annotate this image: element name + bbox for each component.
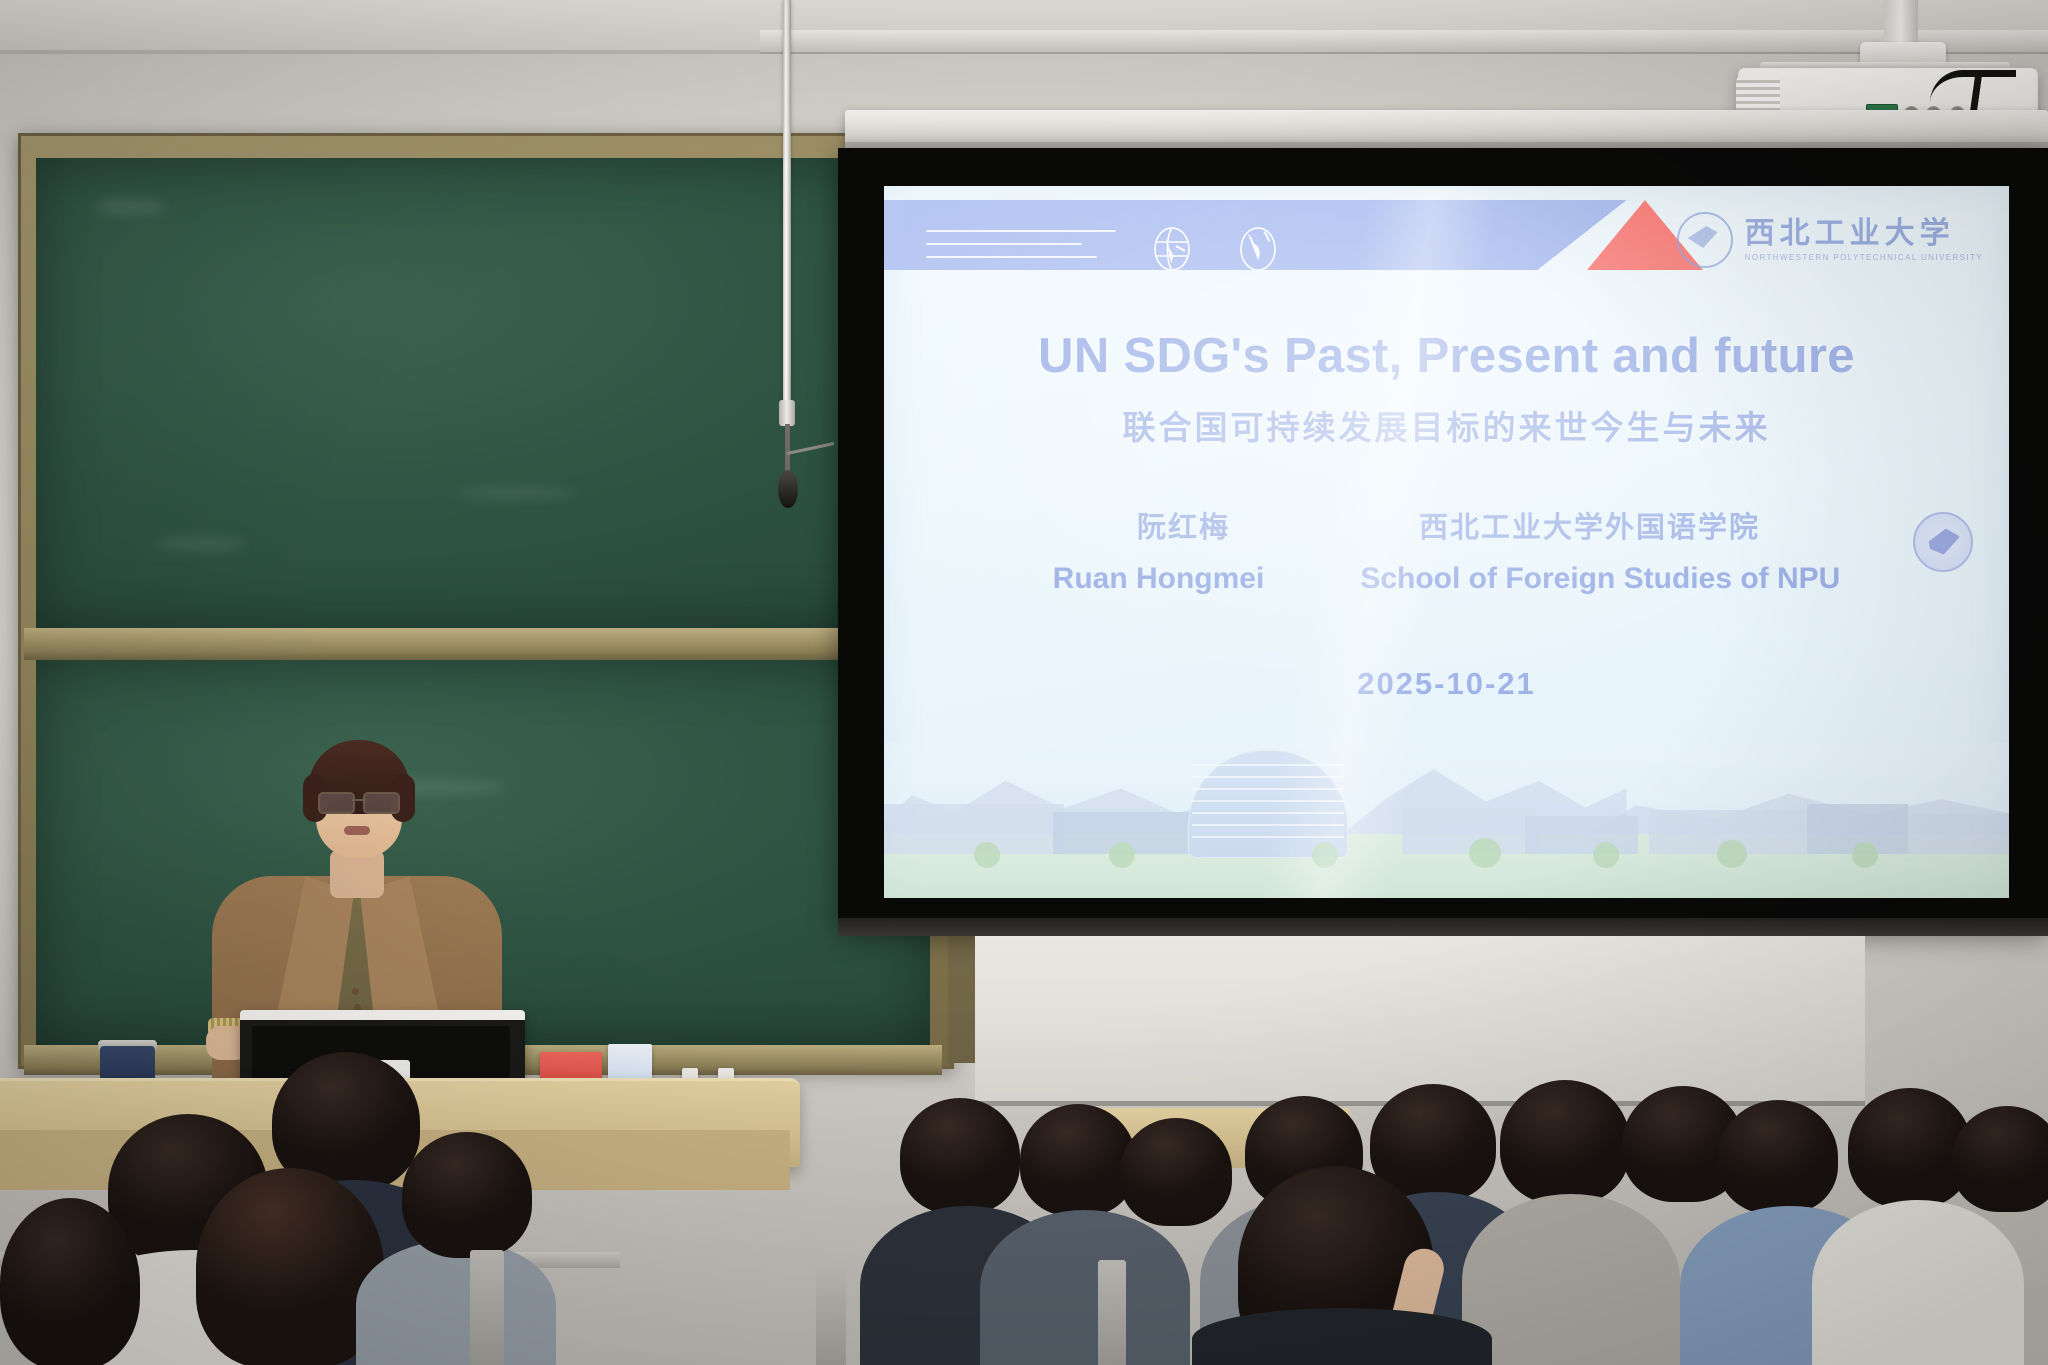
presenter-name-cn: 阮红梅 <box>1089 504 1279 546</box>
globe-icon <box>1238 224 1282 274</box>
university-emblem-icon <box>1677 212 1733 268</box>
projection-screen-bottom-bar <box>838 918 2048 936</box>
student-shoulders <box>356 1240 556 1365</box>
slide-date: 2025-10-21 <box>884 666 2009 702</box>
student-shoulders <box>1462 1194 1680 1365</box>
chalk-rail-upper <box>24 628 942 660</box>
presenter-mouth <box>344 826 370 835</box>
campus-panorama-image <box>884 743 2009 898</box>
student-shoulders <box>1812 1200 2024 1365</box>
university-logo: 西北工业大学 NORTHWESTERN POLYTECHNICAL UNIVER… <box>1677 212 1983 268</box>
presenter-affiliation-en: School of Foreign Studies of NPU <box>1360 562 1840 596</box>
student-head <box>1020 1104 1136 1216</box>
audience-rows <box>0 1080 2048 1365</box>
slide-title-english: UN SDG's Past, Present and future <box>884 328 2009 384</box>
globe-icon <box>1152 224 1196 274</box>
header-decorative-lines <box>926 230 1116 269</box>
student-head <box>1718 1100 1838 1214</box>
seat-back <box>1098 1260 1126 1365</box>
slide-title-chinese: 联合国可持续发展目标的来世今生与未来 <box>884 401 2009 449</box>
classroom-photo-scene: 西北工业大学 NORTHWESTERN POLYTECHNICAL UNIVER… <box>0 0 2048 1365</box>
blackboard-upper-panel <box>36 158 930 628</box>
student-head <box>1500 1080 1630 1204</box>
slide-header-band <box>884 200 1627 270</box>
seat-back <box>470 1250 504 1365</box>
microphone-pole <box>783 0 791 415</box>
student-shoulders <box>1192 1308 1492 1365</box>
byline-row-english: Ruan Hongmei School of Foreign Studies o… <box>884 562 2009 596</box>
student-head <box>1120 1118 1232 1226</box>
presenter-affiliation-cn: 西北工业大学外国语学院 <box>1375 504 1805 546</box>
university-name-cn: 西北工业大学 <box>1745 219 1983 249</box>
student-head <box>0 1198 140 1365</box>
school-seal-icon <box>1913 512 1973 572</box>
university-name-en: NORTHWESTERN POLYTECHNICAL UNIVERSITY <box>1745 253 1983 262</box>
student-shoulders <box>980 1210 1190 1365</box>
microphone-joint <box>779 400 795 426</box>
student-head <box>402 1132 532 1258</box>
student-head <box>900 1098 1020 1214</box>
microphone-head-icon <box>778 470 798 508</box>
presenter-name-en: Ruan Hongmei <box>1053 562 1265 596</box>
student-head <box>1952 1106 2048 1212</box>
projection-screen-case <box>845 110 2048 152</box>
slide-byline: 阮红梅 西北工业大学外国语学院 Ruan Hongmei School of F… <box>884 504 2009 596</box>
glasses-icon <box>316 792 402 810</box>
projector-ceiling-mount <box>1884 0 1918 44</box>
seat-back <box>816 1266 846 1365</box>
ceiling-rail <box>760 30 2048 54</box>
presentation-slide: 西北工业大学 NORTHWESTERN POLYTECHNICAL UNIVER… <box>884 186 2009 898</box>
byline-row-chinese: 阮红梅 西北工业大学外国语学院 <box>884 504 2009 546</box>
